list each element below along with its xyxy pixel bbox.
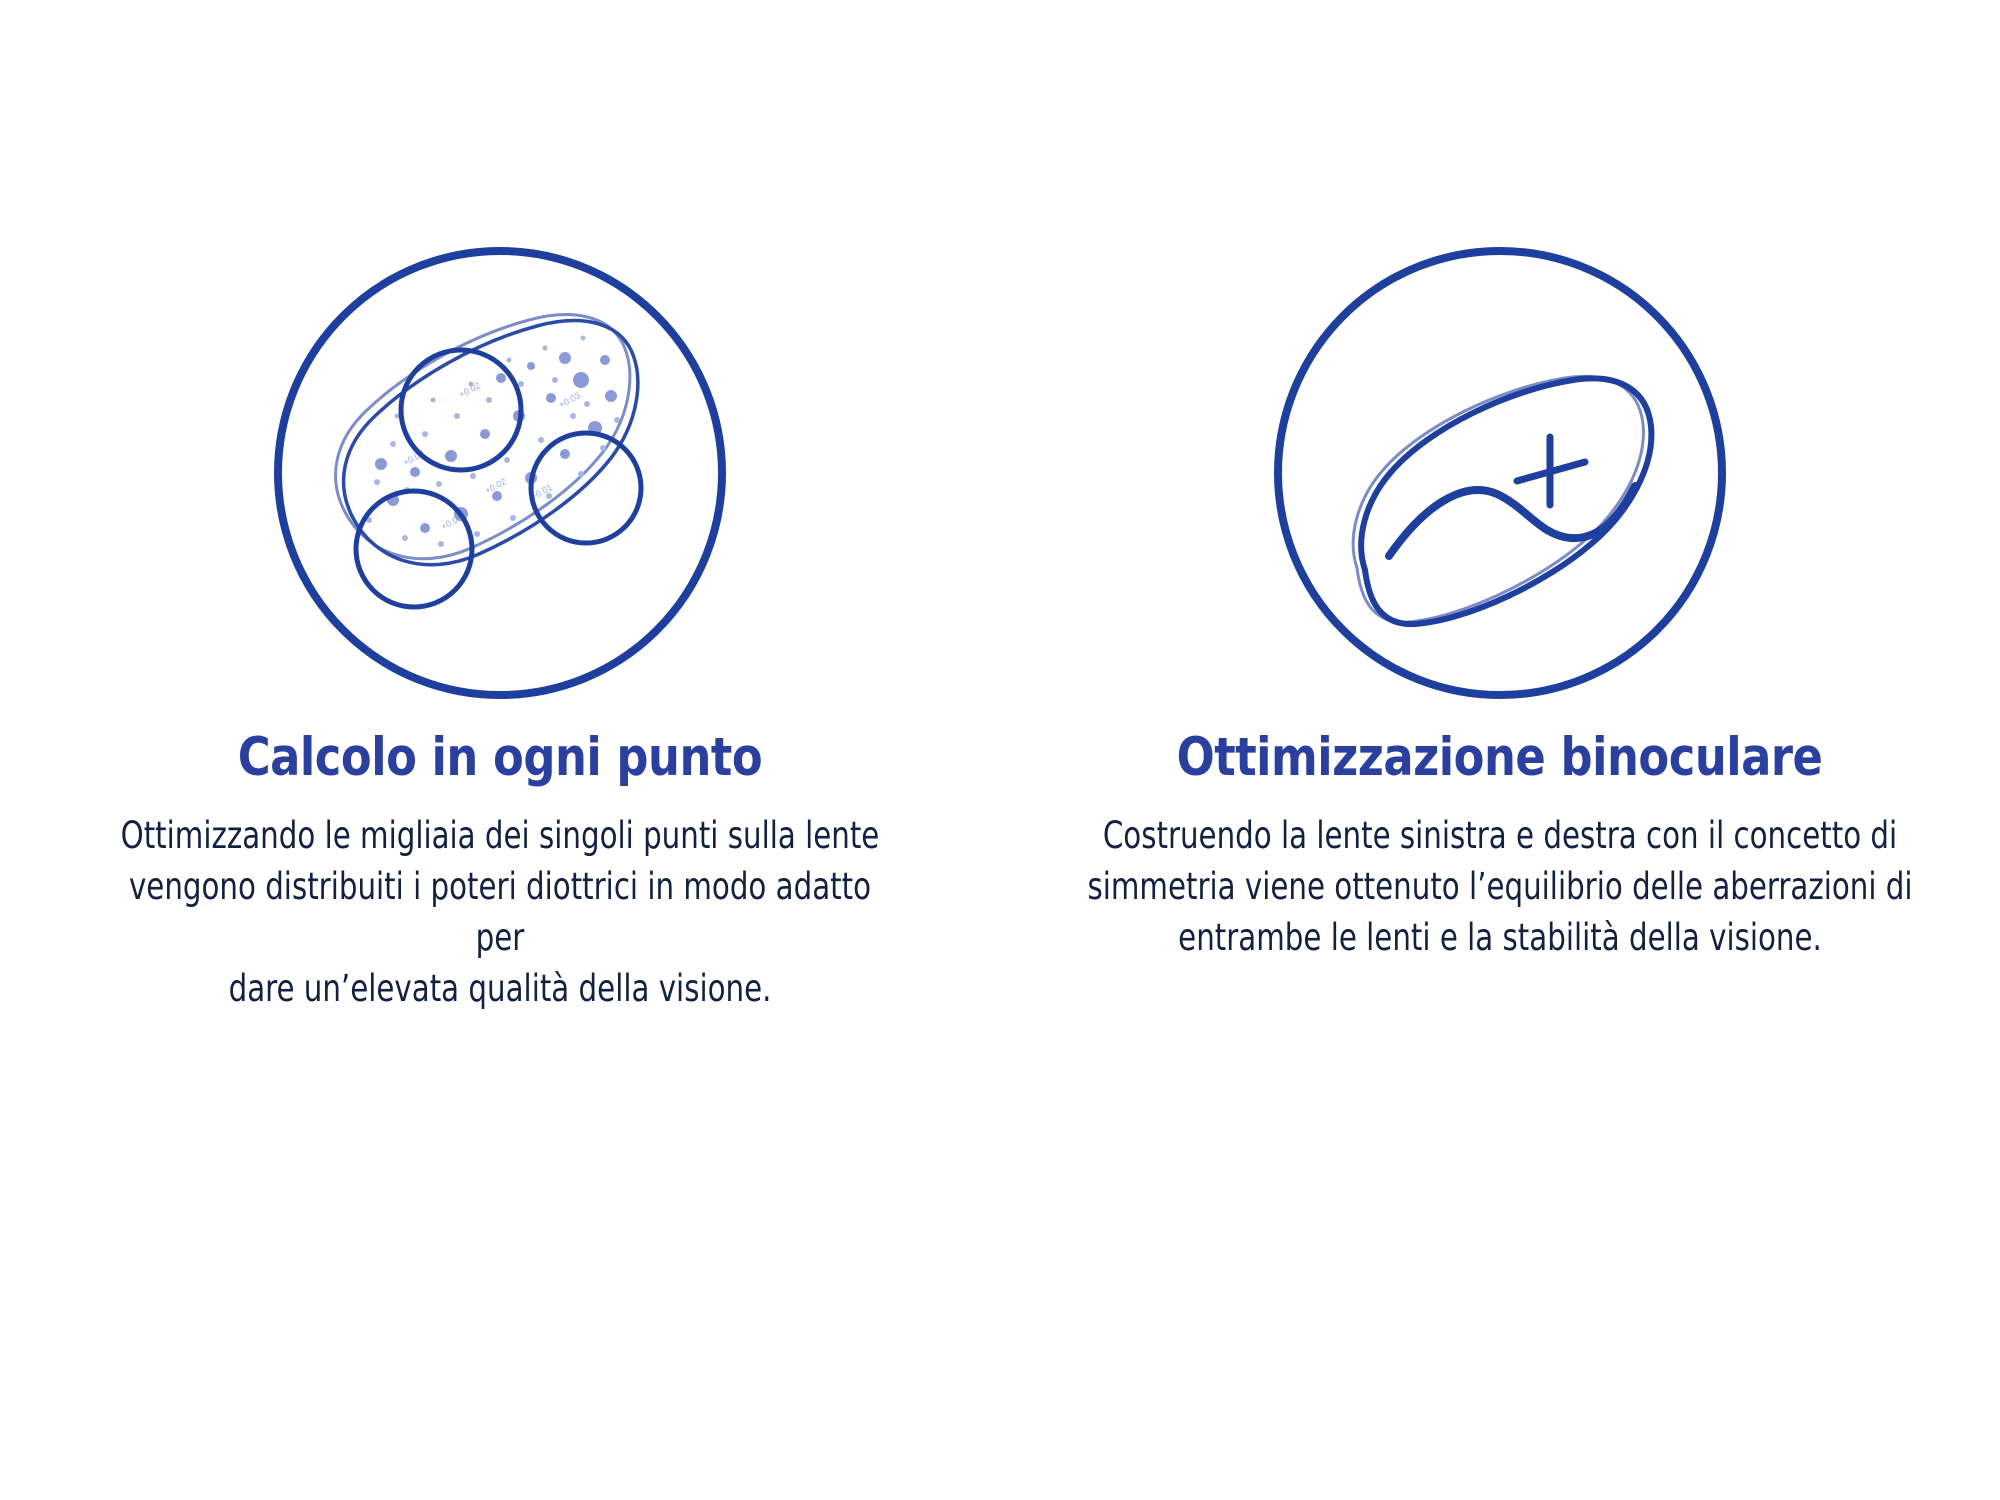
lens-blank-outline-back (1353, 376, 1643, 622)
plus-power-sign (1517, 437, 1585, 505)
feature-title: Calcolo in ogni punto (238, 730, 762, 786)
feature-description-line: Costruendo la lente sinistra e destra co… (1078, 810, 1923, 861)
lens-point-by-point-calculation-icon: +0.03 +0.01 +0.02 +0.01 +0.02 +0.03 (265, 238, 735, 708)
feature-description-line: simmetria viene ottenuto l’equilibrio de… (1078, 861, 1923, 912)
feature-description: Costruendo la lente sinistra e destra co… (1078, 810, 1923, 963)
dotted-power-map: +0.03 +0.01 +0.02 +0.01 +0.02 +0.03 (366, 336, 620, 548)
binocular-balance-wave (1389, 486, 1635, 556)
magnifier-circle-bottom (356, 491, 472, 607)
binocular-optimization-lens-icon (1265, 238, 1735, 708)
feature-row: +0.03 +0.01 +0.02 +0.01 +0.02 +0.03 Calc… (0, 0, 2000, 1230)
feature-card-calcolo-in-ogni-punto: +0.03 +0.01 +0.02 +0.01 +0.02 +0.03 Calc… (0, 0, 1000, 1230)
feature-description-line: vengono distribuiti i poteri diottrici i… (113, 861, 887, 963)
feature-description-line: dare un’elevata qualità della visione. (113, 963, 887, 1014)
feature-description-line: entrambe le lenti e la stabilità della v… (1078, 912, 1923, 963)
magnifier-circle-top (401, 350, 521, 470)
feature-description-line: Ottimizzando le migliaia dei singoli pun… (113, 810, 887, 861)
feature-title: Ottimizzazione binoculare (1177, 730, 1823, 786)
outer-ring-circle (1278, 251, 1722, 695)
feature-card-ottimizzazione-binoculare: Ottimizzazione binoculare Costruendo la … (1000, 0, 2000, 1230)
infographic-page: +0.03 +0.01 +0.02 +0.01 +0.02 +0.03 Calc… (0, 0, 2000, 1500)
micro-power-label: +0.03 (557, 390, 582, 410)
feature-description: Ottimizzando le migliaia dei singoli pun… (113, 810, 887, 1014)
